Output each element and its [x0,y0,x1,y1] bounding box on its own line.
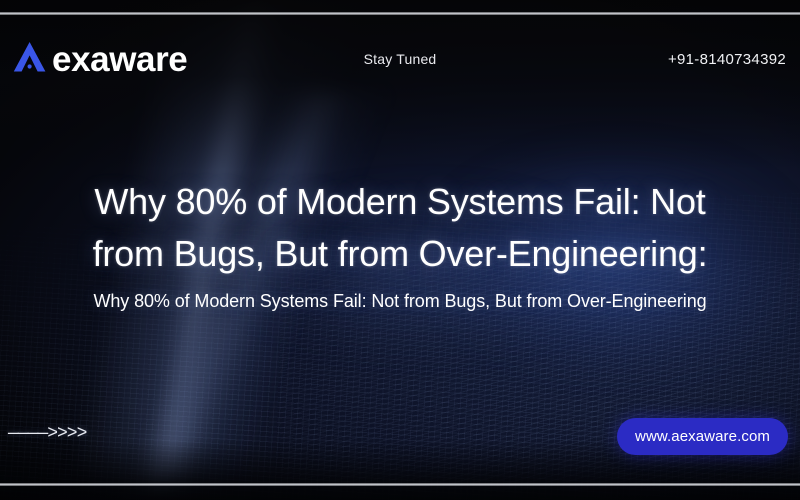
website-cta-button[interactable]: www.aexaware.com [617,418,788,455]
promo-banner: exaware Stay Tuned +91-8140734392 Why 80… [0,0,800,500]
header-phone-number[interactable]: +91-8140734392 [668,51,786,68]
divider-top [0,12,800,15]
subheadline: Why 80% of Modern Systems Fail: Not from… [24,288,776,314]
arrow-decoration-icon: ————>>>> [8,424,86,444]
header-tagline: Stay Tuned [364,51,437,67]
brand-logo[interactable]: exaware [12,40,187,79]
headline-line-2: from Bugs, But from Over-Engineering: [24,228,776,280]
headline-line-1: Why 80% of Modern Systems Fail: Not [24,176,776,228]
a-chevron-logo-icon [12,40,48,79]
brand-logo-text: exaware [52,42,187,77]
divider-bottom [0,483,800,486]
headline-block: Why 80% of Modern Systems Fail: Not from… [0,176,800,314]
header-bar: exaware Stay Tuned +91-8140734392 [0,34,800,84]
